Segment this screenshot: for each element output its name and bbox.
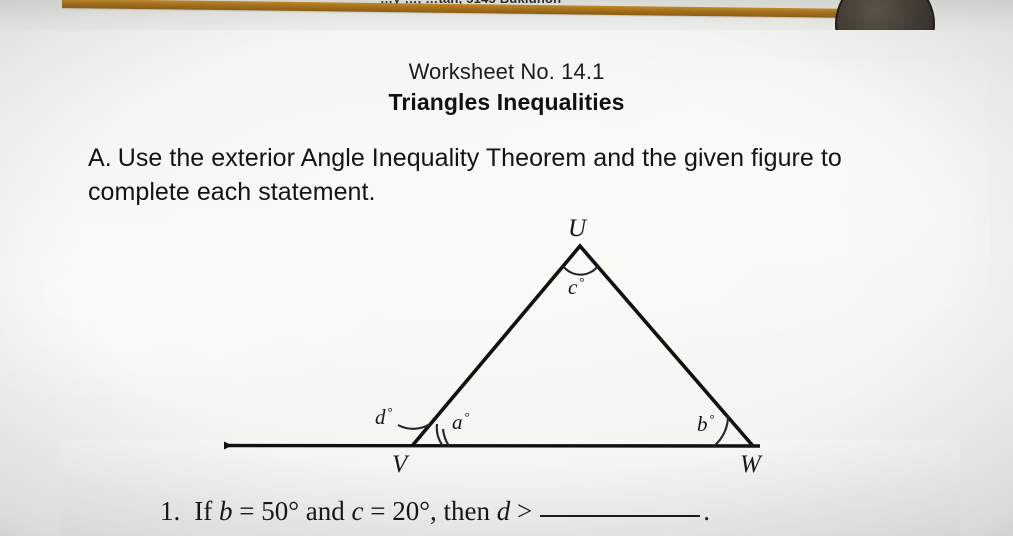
question-1: 1.If b = 50° and c = 20°, then d >. bbox=[160, 498, 710, 525]
question-number: 1. bbox=[160, 496, 180, 526]
question-var-c: c bbox=[352, 496, 364, 526]
question-eq-c: = 20° bbox=[363, 496, 430, 526]
question-var-d: d bbox=[497, 496, 511, 526]
vertex-label-w: W bbox=[740, 452, 761, 477]
school-seal-icon: AN, BUKID bbox=[835, 0, 935, 30]
angle-arc-b bbox=[714, 415, 728, 446]
question-period: . bbox=[703, 496, 710, 526]
question-eq-b: = 50° bbox=[232, 496, 299, 526]
base-ray bbox=[224, 446, 760, 447]
angle-label-a: a° bbox=[452, 410, 470, 433]
instructions-text: Use the exterior Angle Inequality Theore… bbox=[88, 144, 842, 206]
worksheet-topic: Triangles Inequalities bbox=[0, 88, 1013, 117]
angle-arc-a-inner bbox=[437, 424, 443, 446]
question-text-3: , then bbox=[430, 496, 497, 526]
instructions-paragraph: A.Use the exterior Angle Inequality Theo… bbox=[88, 142, 888, 210]
degree-symbol: ° bbox=[465, 409, 470, 424]
question-text-1: If bbox=[194, 496, 219, 526]
vertex-label-u: U bbox=[568, 216, 586, 241]
angle-arc-a bbox=[443, 429, 449, 446]
worksheet-heading: Worksheet No. 14.1 Triangles Inequalitie… bbox=[0, 58, 1013, 116]
paper-glare-left bbox=[0, 180, 420, 410]
angle-arc-d bbox=[398, 424, 430, 429]
degree-symbol: ° bbox=[710, 411, 715, 426]
question-text-2: and bbox=[299, 496, 351, 526]
degree-symbol: ° bbox=[388, 404, 393, 419]
vertex-label-v: V bbox=[392, 452, 407, 477]
degree-symbol: ° bbox=[579, 274, 584, 289]
angle-label-c: c° bbox=[568, 275, 585, 298]
question-var-b: b bbox=[219, 496, 233, 526]
worksheet-number: Worksheet No. 14.1 bbox=[0, 58, 1013, 86]
answer-blank[interactable] bbox=[540, 515, 700, 517]
angle-label-d: d° bbox=[375, 405, 393, 428]
angle-label-b: b° bbox=[697, 412, 715, 435]
top-banner: …y …, …tan, 5145 Bukidnon AN, BUKID bbox=[0, 0, 1013, 30]
question-text-4: > bbox=[510, 496, 532, 526]
instructions-letter: A. bbox=[88, 144, 112, 172]
worksheet-photo: …y …, …tan, 5145 Bukidnon AN, BUKID Work… bbox=[0, 0, 1013, 536]
